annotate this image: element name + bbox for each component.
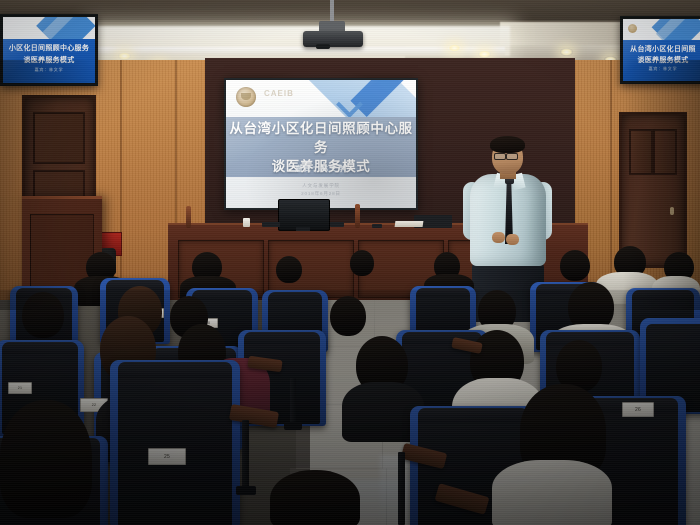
- audience-shoulders: [492, 460, 612, 525]
- slide-footer-line2: 2018年6月28日: [226, 190, 416, 198]
- audience-head: [270, 470, 360, 525]
- seat-headrest: [418, 408, 528, 423]
- slide-footer-line1: 人文与发展学院: [226, 182, 416, 190]
- desk-device: [330, 222, 344, 227]
- speaker-hair: [490, 136, 525, 153]
- seat-tag-text: 26: [635, 407, 641, 413]
- audience-head: [350, 250, 374, 276]
- downlight-icon: [118, 52, 131, 60]
- projector-lens-icon: [316, 44, 330, 49]
- speaker-glasses-icon: [494, 153, 506, 160]
- seat-leg: [290, 378, 296, 426]
- seat-tag-text: 21: [18, 386, 22, 390]
- seat-tag-text: 25: [164, 454, 170, 460]
- ceiling-beam: [0, 0, 700, 22]
- seat-tag-text: 22: [92, 403, 96, 407]
- paper-cup: [243, 218, 250, 227]
- slide-guest-label: 嘉宾：林文学: [226, 164, 416, 174]
- shadow-left: [0, 60, 215, 310]
- speaker-glasses-icon: [506, 153, 518, 160]
- seat-headrest: [118, 362, 232, 378]
- seat-headrest: [416, 288, 470, 297]
- seat-headrest: [268, 292, 322, 301]
- lecture-hall-photo: CAEIB 从台湾小区化日间照顾中心服务 谈医养服务模式 嘉宾：林文学 人文与发…: [0, 0, 700, 525]
- slide-footer: 人文与发展学院 2018年6月28日: [226, 182, 416, 198]
- slide-organization-mark: CAEIB: [264, 89, 294, 98]
- seat-leg: [398, 452, 405, 525]
- desk-device: [262, 222, 280, 227]
- ceiling-projector: [303, 31, 363, 47]
- desk-device: [372, 224, 382, 228]
- audience-head: [330, 296, 366, 336]
- seat-foot: [236, 486, 256, 495]
- downlight-icon: [448, 44, 461, 52]
- seat-headrest: [2, 342, 78, 354]
- speaker-hand: [506, 234, 519, 245]
- speaker-hand: [492, 232, 505, 243]
- desk-papers: [395, 221, 424, 227]
- seat-cushion: [118, 368, 232, 525]
- seat-number-tag: 26: [622, 402, 654, 417]
- shadow-right: [560, 60, 700, 310]
- monitor-stand: [296, 227, 310, 231]
- seat-number-tag: 21: [8, 382, 32, 394]
- slide-header: CAEIB: [226, 80, 416, 117]
- projection-screen: CAEIB 从台湾小区化日间照顾中心服务 谈医养服务模式 嘉宾：林文学 人文与发…: [226, 80, 416, 208]
- cove-light-strip: [95, 47, 505, 56]
- downlight-icon: [478, 50, 491, 58]
- seat-number-tag: 25: [148, 448, 186, 465]
- audience-head: [276, 256, 302, 283]
- stage-rail-post: [355, 204, 360, 228]
- slide-title-line1: 从台湾小区化日间照顾中心服务: [226, 119, 416, 157]
- seat-headrest: [244, 332, 320, 344]
- university-emblem-icon: [236, 87, 256, 107]
- downlight-icon: [560, 48, 573, 56]
- seat-foot: [284, 422, 302, 430]
- projection-screen-frame: CAEIB 从台湾小区化日间照顾中心服务 谈医养服务模式 嘉宾：林文学 人文与发…: [224, 78, 418, 210]
- seat-leg: [242, 420, 249, 490]
- audience-head: [0, 400, 92, 518]
